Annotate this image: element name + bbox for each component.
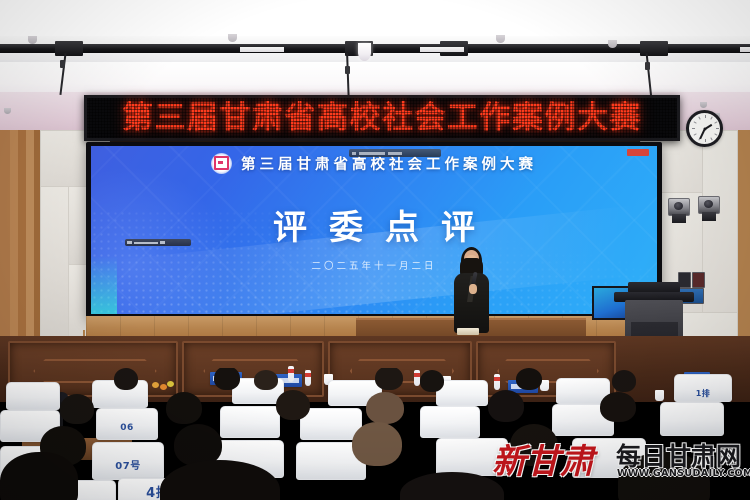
wall-clock (686, 110, 723, 147)
presentation-toolbar-top[interactable] (349, 149, 441, 157)
projection-screen: 第三届甘肃省高校社会工作案例大赛 评委点评 二〇二五年十一月二日 (91, 146, 657, 314)
speaker-person (452, 250, 490, 334)
clock-tick (716, 128, 719, 129)
audience-head (516, 368, 542, 390)
pendant-light (358, 43, 371, 61)
clock-tick (705, 115, 706, 118)
clock-tick (710, 117, 712, 120)
seat-label: 07号 (93, 457, 163, 472)
projector-mount (672, 214, 686, 223)
watermark-url: WWW.GANSUDAILY.COM.CN (617, 468, 750, 479)
acoustic-panel (40, 186, 70, 338)
audience-head (600, 392, 636, 422)
ceiling-spotlight (700, 102, 707, 108)
audience-head (60, 394, 94, 424)
audience-head (254, 370, 278, 390)
seat[interactable]: 07号 (92, 442, 164, 480)
cable-clip (60, 60, 65, 68)
audience-head (488, 390, 524, 422)
rail-lamp (740, 47, 750, 52)
slide-date: 二〇二五年十一月二日 (91, 258, 657, 272)
wall-projector-icon (698, 196, 720, 214)
projector-lens-icon (704, 200, 713, 208)
screen-badge (627, 149, 649, 156)
presentation-toolbar[interactable] (125, 239, 191, 246)
acoustic-panel (702, 130, 738, 314)
clock-tick (705, 139, 706, 142)
clock-tick (710, 137, 712, 140)
seat[interactable] (420, 406, 480, 438)
audience-head (420, 370, 444, 392)
seat[interactable]: 1排 (674, 374, 732, 402)
rail-mount (640, 41, 668, 56)
table-document (457, 328, 479, 335)
ceiling-spotlight (4, 108, 11, 114)
projector-mount (702, 212, 716, 221)
seat-label: 06 (97, 423, 157, 433)
clock-tick (693, 133, 696, 135)
ceiling-light-rail (0, 44, 750, 53)
wall-projector-icon (668, 198, 690, 216)
led-banner-text: 第三届甘肃省高校社会工作案例大赛 (122, 103, 642, 134)
seat[interactable] (220, 406, 280, 438)
rail-lamp (240, 47, 284, 52)
watermark-brand: 新甘肃 (492, 434, 594, 483)
projection-screen-frame: 第三届甘肃省高校社会工作案例大赛 评委点评 二〇二五年十一月二日 (86, 142, 662, 318)
ceiling-panel-upper (0, 0, 750, 36)
clock-tick (714, 133, 717, 135)
clock-center (703, 127, 706, 130)
ceiling-panel-lower (0, 62, 750, 92)
seat[interactable]: 06 (96, 408, 158, 440)
rail-lamp (420, 47, 464, 52)
audience-head-foreground (400, 472, 504, 500)
audience-head (276, 390, 310, 420)
audience-head (166, 392, 202, 424)
projector-lens-icon (674, 202, 683, 210)
ceiling-spotlight (496, 35, 505, 43)
audience-head (366, 392, 404, 424)
audience-head (114, 368, 138, 390)
watermark: 新甘肃 每日甘肃网 WWW.GANSUDAILY.COM.CN (492, 432, 742, 484)
audience-head (214, 368, 240, 390)
audience-head (375, 368, 403, 390)
seat[interactable] (6, 382, 60, 410)
competition-emblem-icon (211, 153, 232, 174)
audience-head-foreground (0, 452, 78, 500)
clock-tick (692, 128, 695, 129)
wall-switch[interactable] (692, 272, 705, 288)
auditorium-photo: 第三届甘肃省高校社会工作案例大赛 第三届甘肃省高校社会工作案例大赛 评委点评 二… (0, 0, 750, 500)
cable-clip (345, 66, 350, 74)
audience-head (612, 370, 636, 392)
speaker-hand (469, 284, 477, 294)
audience-head (352, 422, 402, 466)
seat[interactable] (660, 402, 724, 436)
clock-tick (714, 121, 717, 123)
led-banner: 第三届甘肃省高校社会工作案例大赛 (84, 95, 680, 141)
ceiling-spotlight (608, 40, 617, 48)
clock-tick (693, 121, 696, 123)
rail-mount (55, 41, 83, 56)
clock-tick (698, 117, 700, 120)
ceiling-spotlight (28, 36, 37, 44)
ceiling-spotlight (228, 34, 237, 42)
seat-label: 1排 (675, 388, 731, 399)
cable-clip (645, 62, 650, 70)
